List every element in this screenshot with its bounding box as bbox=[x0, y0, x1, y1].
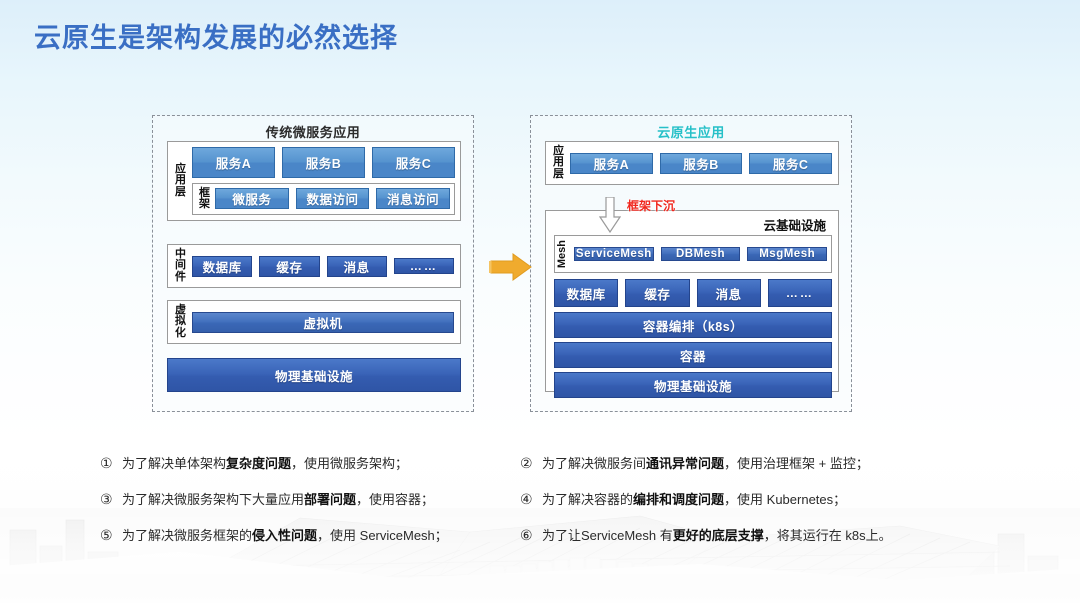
mesh-side-label: Mesh bbox=[557, 240, 572, 268]
bullet-text: 为了解决微服务间通讯异常问题，使用治理框架 + 监控； bbox=[542, 456, 990, 472]
framework-sink-arrow bbox=[599, 197, 621, 233]
legacy-microservice-panel: 传统微服务应用 应用层 服务A 服务B 服务C 框架 微服务 数据访问 消息访问… bbox=[152, 115, 474, 412]
bullet-number: ④ bbox=[520, 491, 542, 508]
msg-mesh-chip[interactable]: MsgMesh bbox=[747, 247, 827, 261]
bullet-item: ⑥ 为了让ServiceMesh 有更好的底层支撑，将其运行在 k8s上。 bbox=[520, 527, 990, 544]
bullet-item: ① 为了解决单体架构复杂度问题，使用微服务架构； bbox=[100, 455, 520, 472]
legacy-virtualization-items: 虚拟机 bbox=[189, 301, 460, 343]
legacy-framework-items: 微服务 数据访问 消息访问 bbox=[213, 184, 454, 215]
bullet-bold: 部署问题 bbox=[304, 492, 356, 507]
legacy-framework-data-access[interactable]: 数据访问 bbox=[296, 188, 370, 209]
legacy-virtualization-label: 虚拟化 bbox=[172, 305, 189, 339]
bullet-pre: 为了让ServiceMesh 有 bbox=[542, 528, 673, 543]
bullet-item: ③ 为了解决微服务架构下大量应用部署问题，使用容器； bbox=[100, 491, 520, 508]
legacy-virtual-machine[interactable]: 虚拟机 bbox=[192, 312, 454, 333]
mesh-subbox: Mesh ServiceMesh DBMesh MsgMesh bbox=[554, 235, 832, 273]
bullet-post: ，使用 ServiceMesh； bbox=[317, 528, 448, 543]
bullet-text: 为了解决微服务架构下大量应用部署问题，使用容器； bbox=[122, 492, 520, 508]
bullet-bold: 更好的底层支撑 bbox=[673, 528, 764, 543]
container-orchestration-bar[interactable]: 容器编排（k8s） bbox=[554, 312, 832, 338]
cloud-service-a[interactable]: 服务A bbox=[570, 153, 653, 174]
legacy-service-b[interactable]: 服务B bbox=[282, 147, 365, 178]
cloud-app-layer-label: 应用层 bbox=[550, 146, 567, 180]
legacy-middleware-label: 中间件 bbox=[172, 249, 189, 283]
legacy-app-layer-label: 应用层 bbox=[172, 164, 189, 198]
legacy-middleware-message[interactable]: 消息 bbox=[327, 256, 387, 277]
page-title: 云原生是架构发展的必然选择 bbox=[34, 16, 398, 55]
cloud-service-b[interactable]: 服务B bbox=[660, 153, 743, 174]
bullet-pre: 为了解决微服务间 bbox=[542, 456, 646, 471]
legacy-physical-infrastructure-bar[interactable]: 物理基础设施 bbox=[167, 358, 461, 392]
transition-arrow bbox=[489, 252, 533, 282]
legacy-framework-subbox: 框架 微服务 数据访问 消息访问 bbox=[192, 183, 455, 216]
bullet-text: 为了解决单体架构复杂度问题，使用微服务架构； bbox=[122, 456, 520, 472]
bullet-bold: 侵入性问题 bbox=[252, 528, 317, 543]
cloud-physical-infrastructure-bar[interactable]: 物理基础设施 bbox=[554, 372, 832, 398]
legacy-middleware-items: 数据库 缓存 消息 …… bbox=[189, 245, 460, 287]
cloud-application-layer-group: 应用层 服务A 服务B 服务C bbox=[545, 141, 839, 185]
cloud-middleware-more[interactable]: …… bbox=[768, 279, 832, 307]
bullet-number: ③ bbox=[100, 491, 122, 508]
bullet-pre: 为了解决单体架构 bbox=[122, 456, 226, 471]
db-mesh-chip[interactable]: DBMesh bbox=[661, 247, 741, 261]
cloud-middleware-cache[interactable]: 缓存 bbox=[625, 279, 689, 307]
bullet-pre: 为了解决微服务框架的 bbox=[122, 528, 252, 543]
cloud-middleware-message[interactable]: 消息 bbox=[697, 279, 761, 307]
bullet-list-left: ① 为了解决单体架构复杂度问题，使用微服务架构； ③ 为了解决微服务架构下大量应… bbox=[100, 455, 520, 563]
legacy-middleware-more[interactable]: …… bbox=[394, 258, 454, 274]
legacy-framework-message-access[interactable]: 消息访问 bbox=[376, 188, 450, 209]
bullet-item: ② 为了解决微服务间通讯异常问题，使用治理框架 + 监控； bbox=[520, 455, 990, 472]
legacy-panel-title: 传统微服务应用 bbox=[153, 122, 473, 141]
down-arrow-icon bbox=[599, 197, 621, 233]
cloud-service-c[interactable]: 服务C bbox=[749, 153, 832, 174]
bullet-number: ⑤ bbox=[100, 527, 122, 544]
legacy-service-c[interactable]: 服务C bbox=[372, 147, 455, 178]
bullet-text: 为了解决容器的编排和调度问题，使用 Kubernetes； bbox=[542, 492, 990, 508]
bullet-number: ⑥ bbox=[520, 527, 542, 544]
cloud-native-panel-title: 云原生应用 bbox=[531, 122, 851, 141]
legacy-framework-microservice[interactable]: 微服务 bbox=[215, 188, 289, 209]
bullet-text: 为了让ServiceMesh 有更好的底层支撑，将其运行在 k8s上。 bbox=[542, 528, 990, 544]
legacy-middleware-cache[interactable]: 缓存 bbox=[259, 256, 319, 277]
bullet-post: ，使用微服务架构； bbox=[291, 456, 408, 471]
cloud-middleware-database[interactable]: 数据库 bbox=[554, 279, 618, 307]
cloud-native-panel: 云原生应用 应用层 服务A 服务B 服务C 框架下沉 云基础设施 Mesh Se… bbox=[530, 115, 852, 412]
cloud-app-layer-items: 服务A 服务B 服务C bbox=[567, 142, 838, 184]
legacy-service-a[interactable]: 服务A bbox=[192, 147, 275, 178]
transition-arrow-icon bbox=[489, 252, 533, 282]
bullet-post: ，将其运行在 k8s上。 bbox=[764, 528, 892, 543]
bullet-number: ② bbox=[520, 455, 542, 472]
bullet-pre: 为了解决微服务架构下大量应用 bbox=[122, 492, 304, 507]
mesh-items: ServiceMesh DBMesh MsgMesh bbox=[572, 236, 831, 272]
bullet-bold: 编排和调度问题 bbox=[633, 492, 724, 507]
bullet-bold: 通讯异常问题 bbox=[646, 456, 724, 471]
bullet-bold: 复杂度问题 bbox=[226, 456, 291, 471]
bullet-number: ① bbox=[100, 455, 122, 472]
legacy-application-layer-group: 应用层 服务A 服务B 服务C 框架 微服务 数据访问 消息访问 bbox=[167, 141, 461, 221]
framework-sink-label: 框架下沉 bbox=[627, 197, 675, 214]
bullet-text: 为了解决微服务框架的侵入性问题，使用 ServiceMesh； bbox=[122, 528, 520, 544]
bullet-pre: 为了解决容器的 bbox=[542, 492, 633, 507]
bullet-item: ⑤ 为了解决微服务框架的侵入性问题，使用 ServiceMesh； bbox=[100, 527, 520, 544]
bullet-post: ，使用 Kubernetes； bbox=[724, 492, 846, 507]
container-bar[interactable]: 容器 bbox=[554, 342, 832, 368]
service-mesh-chip[interactable]: ServiceMesh bbox=[574, 247, 654, 261]
legacy-framework-label: 框架 bbox=[196, 188, 213, 210]
bullet-item: ④ 为了解决容器的编排和调度问题，使用 Kubernetes； bbox=[520, 491, 990, 508]
bullet-post: ，使用容器； bbox=[356, 492, 434, 507]
cloud-middleware-row: 数据库 缓存 消息 …… bbox=[554, 279, 832, 307]
legacy-middleware-group: 中间件 数据库 缓存 消息 …… bbox=[167, 244, 461, 288]
bullet-post: ，使用治理框架 + 监控； bbox=[724, 456, 869, 471]
cloud-infrastructure-label: 云基础设施 bbox=[763, 215, 826, 234]
legacy-virtualization-group: 虚拟化 虚拟机 bbox=[167, 300, 461, 344]
legacy-middleware-database[interactable]: 数据库 bbox=[192, 256, 252, 277]
cloud-infrastructure-group: 云基础设施 Mesh ServiceMesh DBMesh MsgMesh 数据… bbox=[545, 210, 839, 392]
bullet-list-right: ② 为了解决微服务间通讯异常问题，使用治理框架 + 监控； ④ 为了解决容器的编… bbox=[520, 455, 990, 563]
